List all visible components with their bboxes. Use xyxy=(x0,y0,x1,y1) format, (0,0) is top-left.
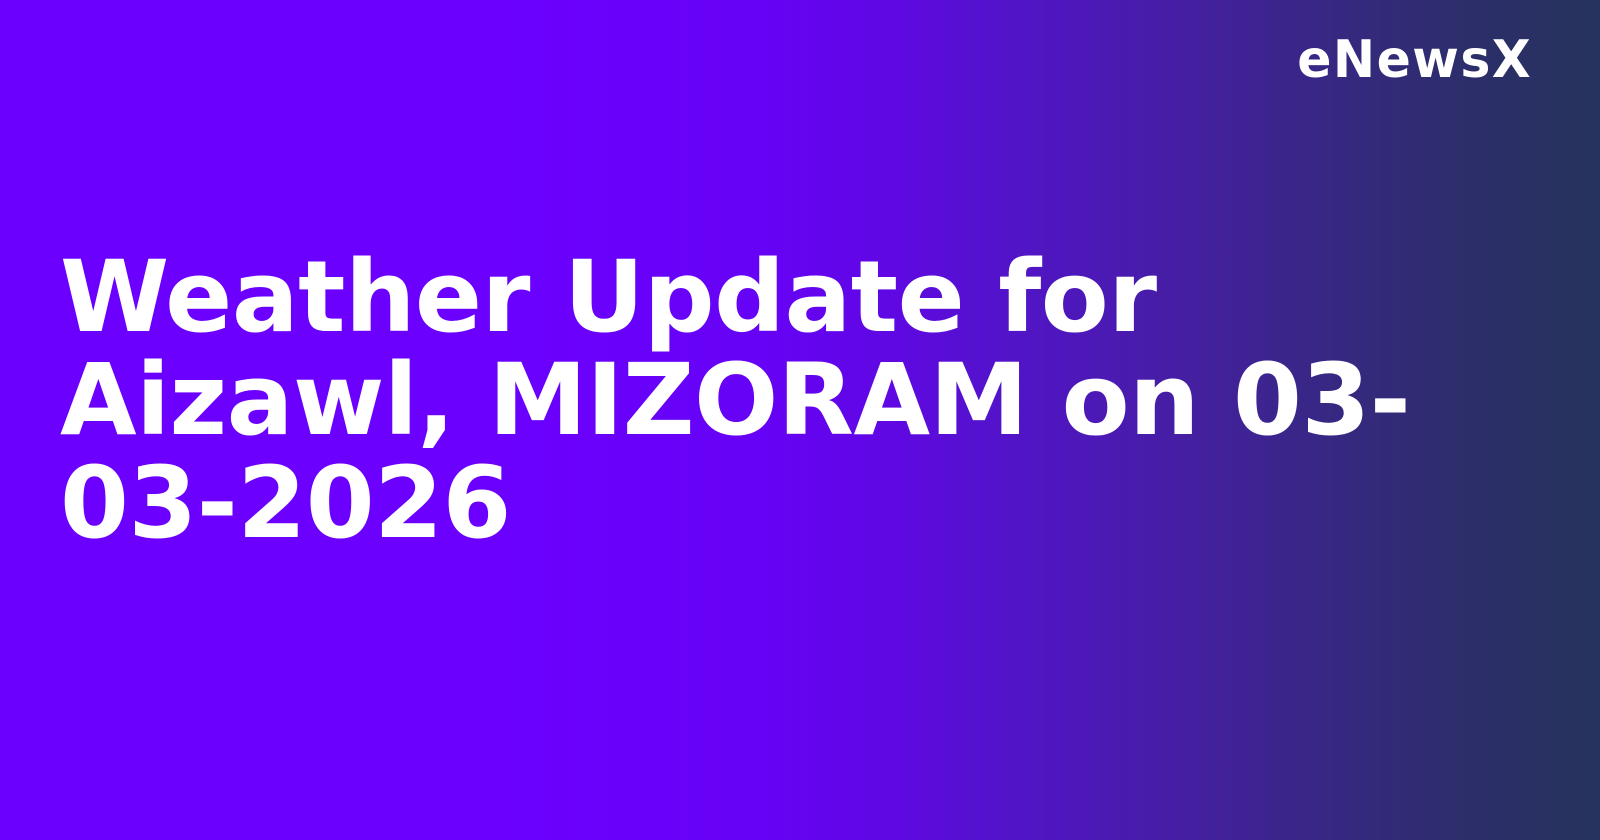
page-title: Weather Update for Aizawl, MIZORAM on 03… xyxy=(60,246,1480,555)
news-banner: eNewsX Weather Update for Aizawl, MIZORA… xyxy=(0,0,1600,840)
brand-header: eNewsX xyxy=(1290,34,1532,86)
headline-block: Weather Update for Aizawl, MIZORAM on 03… xyxy=(60,246,1480,555)
brand-logo-enewsx[interactable]: eNewsX xyxy=(1297,34,1532,86)
